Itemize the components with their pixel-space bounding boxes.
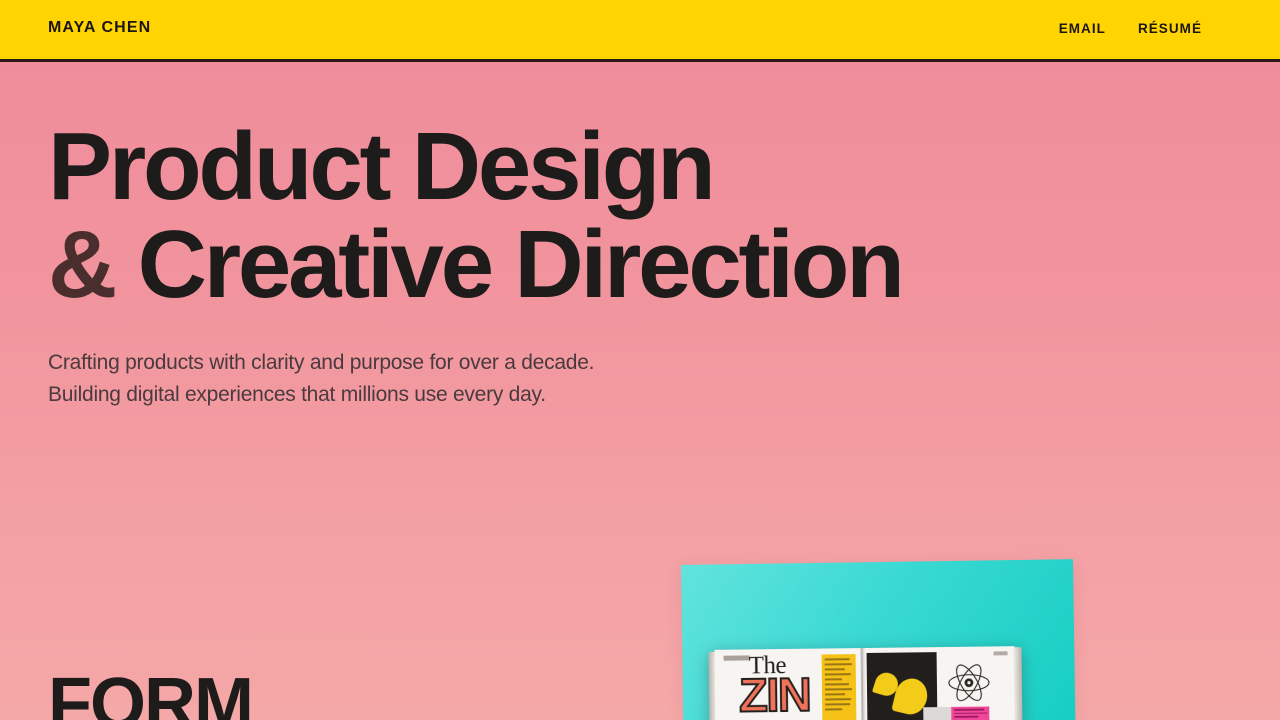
nav-link-email[interactable]: EMAIL xyxy=(1059,21,1106,36)
nav-link-resume[interactable]: RÉSUMÉ xyxy=(1138,21,1202,36)
primary-nav: EMAIL RÉSUMÉ xyxy=(1059,21,1240,36)
text-line xyxy=(825,708,842,710)
text-line xyxy=(825,698,851,700)
magazine-left-page: The ZIN xyxy=(715,648,864,720)
headline-ampersand: & xyxy=(48,211,114,318)
subhead-line-2: Building digital experiences that millio… xyxy=(48,383,546,406)
site-header: MAYA CHEN EMAIL RÉSUMÉ xyxy=(0,0,1280,62)
brand-logo[interactable]: MAYA CHEN xyxy=(48,19,151,37)
text-line xyxy=(825,673,851,675)
magazine-right-edge xyxy=(1014,647,1023,720)
open-magazine: The ZIN xyxy=(715,646,1016,720)
hero-page: MAYA CHEN EMAIL RÉSUMÉ Product Design & … xyxy=(0,0,1280,720)
hero-artwork: The ZIN xyxy=(660,548,1100,720)
section-heading-form: FORM xyxy=(48,668,252,720)
magazine-page-number xyxy=(994,651,1008,655)
text-line xyxy=(954,716,978,718)
subhead-line-1: Crafting products with clarity and purpo… xyxy=(48,351,594,374)
text-line xyxy=(954,709,984,711)
headline-line-2: Creative Direction xyxy=(138,211,902,318)
magazine-kicker-rule xyxy=(724,655,750,660)
page-title: Product Design & Creative Direction xyxy=(48,118,902,314)
sticky-note xyxy=(951,706,989,720)
text-line xyxy=(825,658,850,660)
atom-diagram-icon xyxy=(947,660,992,705)
hero-content: Product Design & Creative Direction Craf… xyxy=(48,118,902,411)
text-line xyxy=(825,678,842,680)
text-line xyxy=(825,683,849,685)
hero-subhead: Crafting products with clarity and purpo… xyxy=(48,347,902,411)
magazine-sketch-block xyxy=(923,707,951,720)
text-line xyxy=(825,693,845,695)
text-line xyxy=(825,663,852,665)
magazine-spine xyxy=(860,648,866,720)
magazine-right-page xyxy=(862,646,1015,720)
text-line xyxy=(825,688,852,690)
headline-line-1: Product Design xyxy=(48,113,713,220)
magazine-accent-column xyxy=(822,654,857,720)
magazine-title-block: ZIN xyxy=(739,671,811,719)
text-line xyxy=(825,703,850,705)
text-line xyxy=(954,712,987,714)
text-line xyxy=(825,668,845,670)
